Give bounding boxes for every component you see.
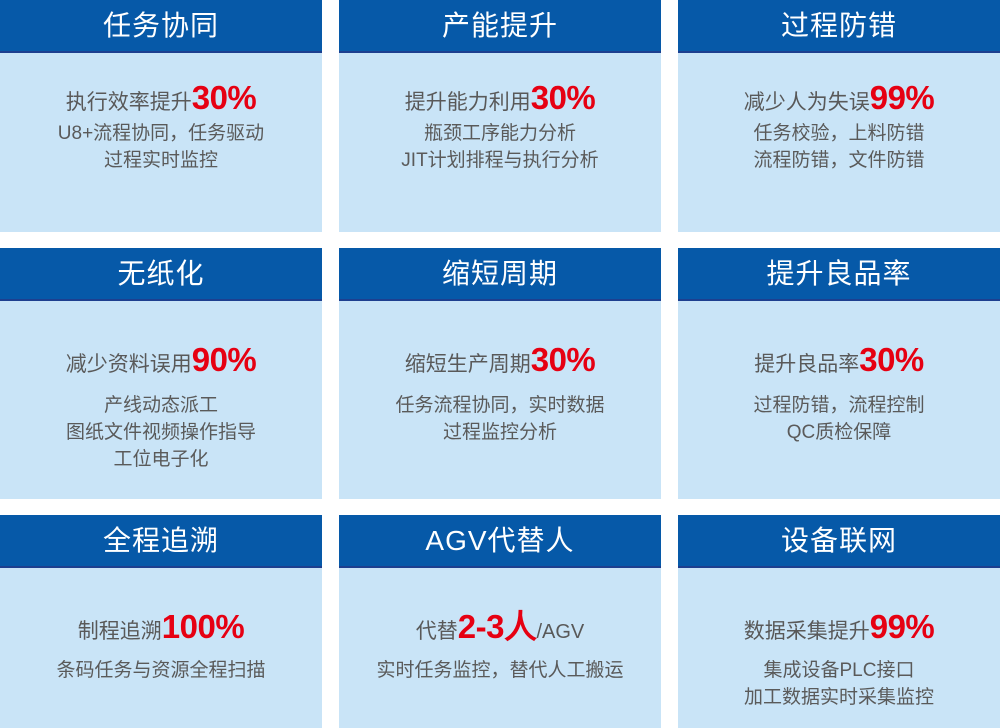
detail-line: 条码任务与资源全程扫描 xyxy=(56,658,265,685)
card-header-task-collaboration: 任务协同 xyxy=(0,0,322,53)
stat-value: 90% xyxy=(192,343,257,376)
card-title: 提升良品率 xyxy=(766,260,911,288)
card-title: 产能提升 xyxy=(442,12,558,40)
card-paperless[interactable]: 无纸化减少资料误用90%产线动态派工图纸文件视频操作指导工位电子化 xyxy=(0,248,322,499)
card-full-traceability[interactable]: 全程追溯制程追溯100%条码任务与资源全程扫描 xyxy=(0,515,322,728)
card-capacity-improvement[interactable]: 产能提升提升能力利用30%瓶颈工序能力分析JIT计划排程与执行分析 xyxy=(339,0,661,232)
card-shorten-cycle[interactable]: 缩短周期缩短生产周期30%任务流程协同，实时数据过程监控分析 xyxy=(339,248,661,499)
detail-line: 过程实时监控 xyxy=(58,148,264,175)
stat-value: 30% xyxy=(192,81,257,114)
stat-line: 提升良品率30% xyxy=(754,343,924,377)
stat-label: 代替 xyxy=(416,620,458,644)
detail-line: 实时任务监控，替代人工搬运 xyxy=(376,658,623,685)
detail-line: 工位电子化 xyxy=(66,447,256,474)
stat-line: 减少资料误用90% xyxy=(66,343,257,377)
stat-value: 30% xyxy=(859,343,924,376)
stat-line: 减少人为失误99% xyxy=(744,81,935,115)
stat-value: 99% xyxy=(870,610,935,643)
card-agv-replaces-people[interactable]: AGV代替人代替2-3人/AGV实时任务监控，替代人工搬运 xyxy=(339,515,661,728)
detail-lines: 产线动态派工图纸文件视频操作指导工位电子化 xyxy=(66,393,256,474)
stat-line: 制程追溯100% xyxy=(78,610,244,644)
card-header-shorten-cycle: 缩短周期 xyxy=(339,248,661,301)
card-title: AGV代替人 xyxy=(425,527,574,555)
stat-suffix: /AGV xyxy=(536,621,584,644)
detail-line: U8+流程协同，任务驱动 xyxy=(58,121,264,148)
stat-label: 制程追溯 xyxy=(78,620,162,644)
card-header-process-error-proofing: 过程防错 xyxy=(678,0,1000,53)
detail-lines: 任务流程协同，实时数据过程监控分析 xyxy=(395,393,604,447)
card-improve-yield-rate[interactable]: 提升良品率提升良品率30%过程防错，流程控制QC质检保障 xyxy=(678,248,1000,499)
detail-lines: 瓶颈工序能力分析JIT计划排程与执行分析 xyxy=(401,121,598,175)
detail-line: 图纸文件视频操作指导 xyxy=(66,420,256,447)
stat-label: 提升良品率 xyxy=(754,353,859,377)
detail-line: 加工数据实时采集监控 xyxy=(744,685,934,712)
card-process-error-proofing[interactable]: 过程防错减少人为失误99%任务校验，上料防错流程防错，文件防错 xyxy=(678,0,1000,232)
detail-lines: U8+流程协同，任务驱动过程实时监控 xyxy=(58,121,264,175)
stat-value: 30% xyxy=(531,81,596,114)
detail-line: JIT计划排程与执行分析 xyxy=(401,148,598,175)
detail-line: 过程监控分析 xyxy=(395,420,604,447)
card-body-equipment-networking: 数据采集提升99%集成设备PLC接口加工数据实时采集监控 xyxy=(678,568,1000,728)
card-title: 过程防错 xyxy=(781,12,897,40)
card-title: 缩短周期 xyxy=(442,260,558,288)
card-body-capacity-improvement: 提升能力利用30%瓶颈工序能力分析JIT计划排程与执行分析 xyxy=(339,53,661,232)
card-title: 任务协同 xyxy=(103,12,219,40)
stat-label: 数据采集提升 xyxy=(744,620,870,644)
card-header-capacity-improvement: 产能提升 xyxy=(339,0,661,53)
card-body-agv-replaces-people: 代替2-3人/AGV实时任务监控，替代人工搬运 xyxy=(339,568,661,728)
detail-lines: 条码任务与资源全程扫描 xyxy=(56,658,265,685)
card-body-improve-yield-rate: 提升良品率30%过程防错，流程控制QC质检保障 xyxy=(678,301,1000,499)
card-header-full-traceability: 全程追溯 xyxy=(0,515,322,568)
stat-label: 减少人为失误 xyxy=(744,91,870,115)
stat-line: 提升能力利用30% xyxy=(405,81,596,115)
stat-line: 缩短生产周期30% xyxy=(405,343,596,377)
detail-line: 产线动态派工 xyxy=(66,393,256,420)
card-body-process-error-proofing: 减少人为失误99%任务校验，上料防错流程防错，文件防错 xyxy=(678,53,1000,232)
detail-lines: 任务校验，上料防错流程防错，文件防错 xyxy=(753,121,924,175)
card-body-full-traceability: 制程追溯100%条码任务与资源全程扫描 xyxy=(0,568,322,728)
card-header-paperless: 无纸化 xyxy=(0,248,322,301)
stat-label: 缩短生产周期 xyxy=(405,353,531,377)
stat-line: 代替2-3人/AGV xyxy=(416,610,585,644)
stat-label: 执行效率提升 xyxy=(66,91,192,115)
detail-line: 瓶颈工序能力分析 xyxy=(401,121,598,148)
stat-label: 减少资料误用 xyxy=(66,353,192,377)
card-body-paperless: 减少资料误用90%产线动态派工图纸文件视频操作指导工位电子化 xyxy=(0,301,322,499)
stat-value: 30% xyxy=(531,343,596,376)
detail-line: 任务流程协同，实时数据 xyxy=(395,393,604,420)
detail-line: 过程防错，流程控制 xyxy=(753,393,924,420)
card-header-equipment-networking: 设备联网 xyxy=(678,515,1000,568)
detail-line: 集成设备PLC接口 xyxy=(744,658,934,685)
stat-value: 100% xyxy=(162,610,244,643)
detail-line: 流程防错，文件防错 xyxy=(753,148,924,175)
card-equipment-networking[interactable]: 设备联网数据采集提升99%集成设备PLC接口加工数据实时采集监控 xyxy=(678,515,1000,728)
card-body-shorten-cycle: 缩短生产周期30%任务流程协同，实时数据过程监控分析 xyxy=(339,301,661,499)
card-title: 无纸化 xyxy=(117,260,204,288)
detail-line: QC质检保障 xyxy=(753,420,924,447)
stat-line: 执行效率提升30% xyxy=(66,81,257,115)
stat-line: 数据采集提升99% xyxy=(744,610,935,644)
card-task-collaboration[interactable]: 任务协同执行效率提升30%U8+流程协同，任务驱动过程实时监控 xyxy=(0,0,322,232)
card-title: 全程追溯 xyxy=(103,527,219,555)
stat-value: 99% xyxy=(870,81,935,114)
card-body-task-collaboration: 执行效率提升30%U8+流程协同，任务驱动过程实时监控 xyxy=(0,53,322,232)
card-title: 设备联网 xyxy=(781,527,897,555)
stat-value: 2-3人 xyxy=(458,610,537,643)
card-header-improve-yield-rate: 提升良品率 xyxy=(678,248,1000,301)
detail-lines: 集成设备PLC接口加工数据实时采集监控 xyxy=(744,658,934,712)
benefits-grid: 任务协同执行效率提升30%U8+流程协同，任务驱动过程实时监控产能提升提升能力利… xyxy=(0,0,1000,728)
card-header-agv-replaces-people: AGV代替人 xyxy=(339,515,661,568)
detail-lines: 实时任务监控，替代人工搬运 xyxy=(376,658,623,685)
detail-line: 任务校验，上料防错 xyxy=(753,121,924,148)
detail-lines: 过程防错，流程控制QC质检保障 xyxy=(753,393,924,447)
stat-label: 提升能力利用 xyxy=(405,91,531,115)
